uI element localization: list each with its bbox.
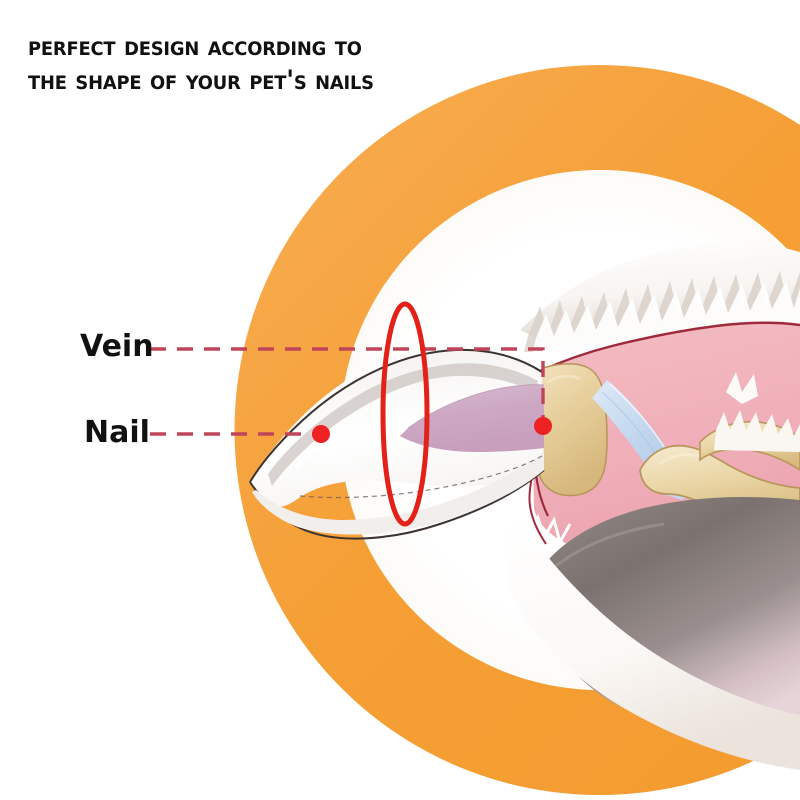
claw-anatomy-illustration <box>0 0 800 800</box>
promo-graphic-root: Perfect design according to the shape of… <box>0 0 800 800</box>
vein-endpoint-dot <box>534 417 552 435</box>
nail-endpoint-dot <box>312 425 330 443</box>
